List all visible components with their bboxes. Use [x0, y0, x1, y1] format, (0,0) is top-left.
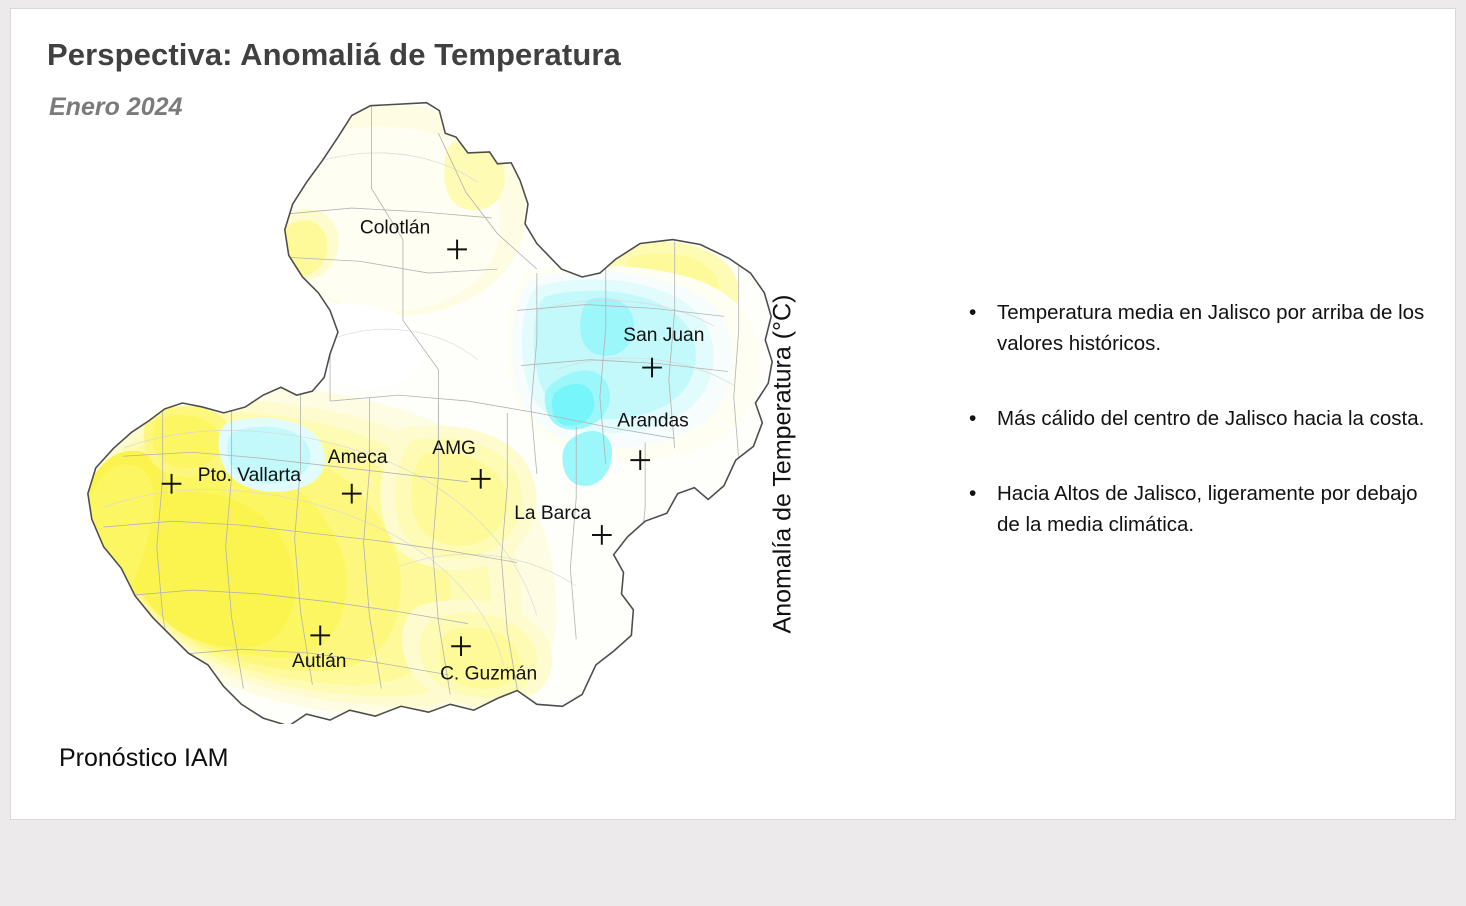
city-label-ameca: Ameca [328, 447, 388, 468]
city-label-pto-vallarta: Pto. Vallarta [198, 465, 301, 486]
page-title: Perspectiva: Anomaliá de Temperatura [47, 37, 621, 73]
bullet-marker: • [963, 297, 997, 359]
bullet-text: Más cálido del centro de Jalisco hacia l… [997, 403, 1424, 434]
slide-canvas: Perspectiva: Anomaliá de Temperatura Ene… [10, 8, 1456, 820]
city-label-arandas: Arandas [617, 411, 688, 432]
jalisco-anomaly-map[interactable]: Colotlán San Juan Arandas Pto. Vallarta … [61, 84, 801, 724]
city-label-colotlan: Colotlán [360, 218, 430, 239]
bullet-marker: • [963, 478, 997, 540]
anomaly-contours [64, 84, 801, 724]
bullet-item: • Temperatura media en Jalisco por arrib… [963, 297, 1443, 359]
city-label-c-guzman: C. Guzmán [440, 664, 537, 685]
bullet-text: Temperatura media en Jalisco por arriba … [997, 297, 1443, 359]
bullet-text: Hacia Altos de Jalisco, ligeramente por … [997, 478, 1443, 540]
bullet-item: • Más cálido del centro de Jalisco hacia… [963, 403, 1443, 434]
summary-bullets: • Temperatura media en Jalisco por arrib… [963, 297, 1443, 584]
footer-credit: Pronóstico IAM [59, 744, 229, 773]
bullet-marker: • [963, 403, 997, 434]
colorbar-axis-label: Anomalía de Temperatura (°C) [769, 264, 798, 664]
city-label-autlan: Autlán [292, 651, 346, 672]
city-label-amg: AMG [432, 438, 476, 459]
city-label-la-barca: La Barca [514, 503, 591, 524]
map-svg: Colotlán San Juan Arandas Pto. Vallarta … [61, 84, 801, 724]
city-label-san-juan: San Juan [623, 325, 704, 346]
bullet-item: • Hacia Altos de Jalisco, ligeramente po… [963, 478, 1443, 540]
colorbar[interactable]: 0.60.40.20-0.2-0.4 [837, 214, 947, 714]
